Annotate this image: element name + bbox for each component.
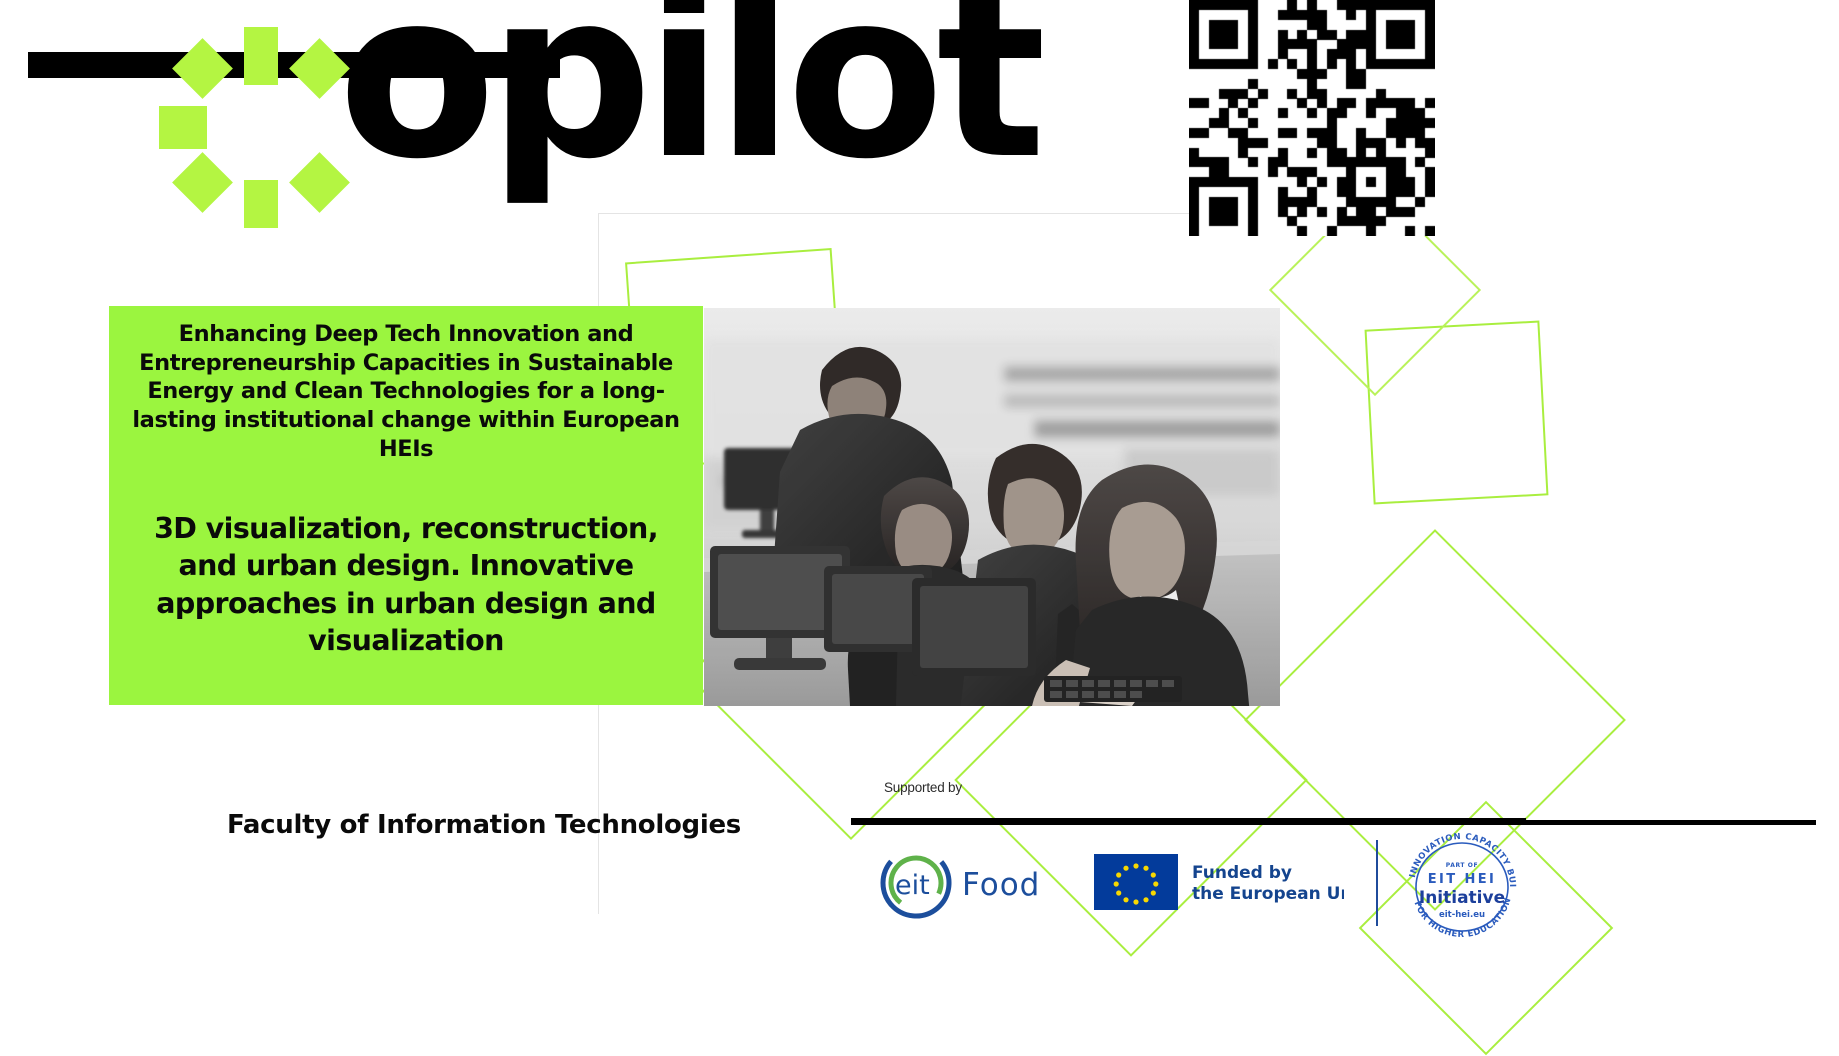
sunburst-icon-upper-left: [172, 38, 233, 99]
presentation-title: 3D visualization, reconstruction, and ur…: [121, 510, 691, 659]
funding-logos-row: eit Food Funded by the European Union: [868, 828, 1828, 938]
project-subtitle: Enhancing Deep Tech Innovation and Entre…: [121, 320, 691, 463]
svg-text:eit: eit: [895, 870, 930, 901]
supported-by-label: Supported by: [884, 780, 962, 795]
logo-wordmark: opilot: [338, 0, 1038, 192]
sunburst-icon-top: [244, 27, 278, 85]
sunburst-icon-bottom: [244, 180, 278, 228]
hei-line-1: EIT HEI: [1428, 872, 1497, 887]
sunburst-icon-left: [159, 106, 207, 149]
sunburst-icon-lower-left: [172, 152, 233, 213]
slide-canvas: opilot: [0, 0, 1839, 1056]
students-photo: [704, 308, 1280, 706]
content-panel: Enhancing Deep Tech Innovation and Entre…: [109, 306, 703, 705]
svg-text:Food: Food: [962, 867, 1040, 903]
faculty-label: Faculty of Information Technologies: [0, 810, 968, 840]
hei-part-of: PART OF: [1446, 862, 1478, 869]
footer-divider-bar: [851, 818, 1526, 825]
deco-square-2: [1365, 321, 1549, 505]
eit-food-logo: eit Food: [876, 840, 1056, 926]
hei-line-2: Initiative: [1419, 888, 1505, 908]
footer-divider-bar-right: [1526, 820, 1816, 825]
eu-funded-line-2: the European Union: [1192, 884, 1344, 904]
footer-vertical-divider: [1376, 840, 1378, 926]
opilot-logo: opilot: [26, 0, 956, 245]
eu-funding-logo: Funded by the European Union: [1094, 852, 1344, 914]
hei-url: eit-hei.eu: [1439, 910, 1485, 920]
qr-code[interactable]: [1189, 0, 1435, 236]
eu-funded-line-1: Funded by: [1192, 863, 1292, 883]
eit-hei-initiative-seal: INNOVATION CAPACITY BUILDING FOR HIGHER …: [1396, 833, 1566, 933]
